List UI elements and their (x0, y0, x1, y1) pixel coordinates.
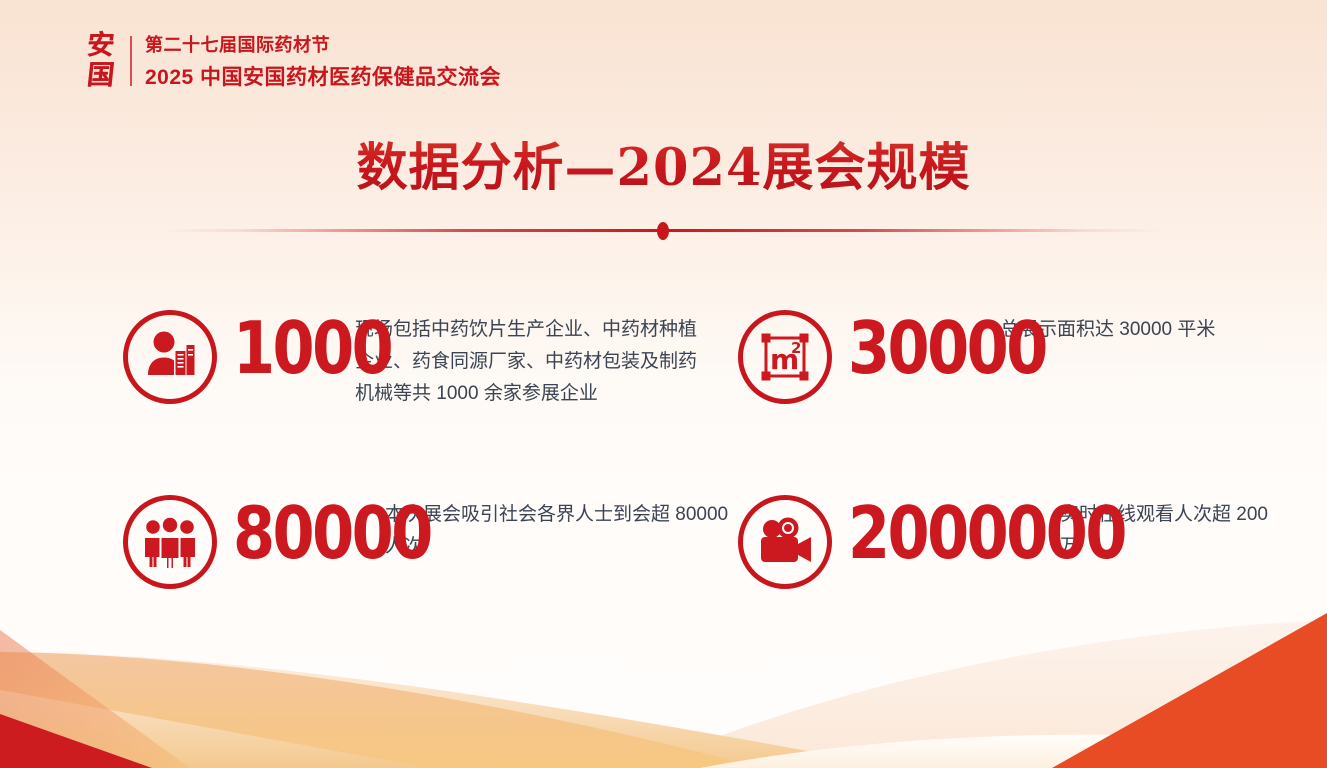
svg-text:2: 2 (791, 339, 801, 357)
header-vertical-divider (130, 36, 132, 86)
stat-number: 30000 (848, 309, 976, 387)
stat-card-exhibitors: 1000 现场包括中药饮片生产企业、中药材种植企业、药食同源厂家、中药材包装及制… (123, 300, 738, 485)
header-text-block: 第二十七届国际药材节 2025 中国安国药材医药保健品交流会 (145, 31, 501, 91)
stat-description: 本次展会吸引社会各界人士到会超 80000 人次 (385, 499, 730, 563)
event-branding-header: 安 国 第二十七届国际药材节 2025 中国安国药材医药保健品交流会 (78, 30, 501, 92)
event-subtitle-line: 2025 中国安国药材医药保健品交流会 (145, 61, 501, 91)
stat-description: 现场包括中药饮片生产企业、中药材种植企业、药食同源厂家、中药材包装及制药机械等共… (355, 314, 700, 410)
logo-char-an: 安 (85, 31, 115, 61)
stat-number: 2000000 (848, 494, 1026, 572)
bottom-wave-decoration (0, 568, 1327, 768)
slide-canvas: 安 国 第二十七届国际药材节 2025 中国安国药材医药保健品交流会 数据分析—… (0, 0, 1327, 768)
person-buildings-icon (123, 310, 217, 404)
anguo-seal-logo: 安 国 (78, 30, 122, 92)
stat-card-area: m 2 30000 总展示面积达 30000 平米 (738, 300, 1327, 485)
stat-number: 80000 (233, 494, 361, 572)
logo-char-guo: 国 (85, 61, 115, 91)
square-meter-icon: m 2 (738, 310, 832, 404)
divider-center-dot (657, 222, 669, 240)
page-title: 数据分析—2024展会规模 (0, 126, 1327, 200)
title-divider (163, 222, 1163, 240)
stat-number: 1000 (233, 309, 335, 387)
event-name-line: 第二十七届国际药材节 (145, 31, 501, 57)
